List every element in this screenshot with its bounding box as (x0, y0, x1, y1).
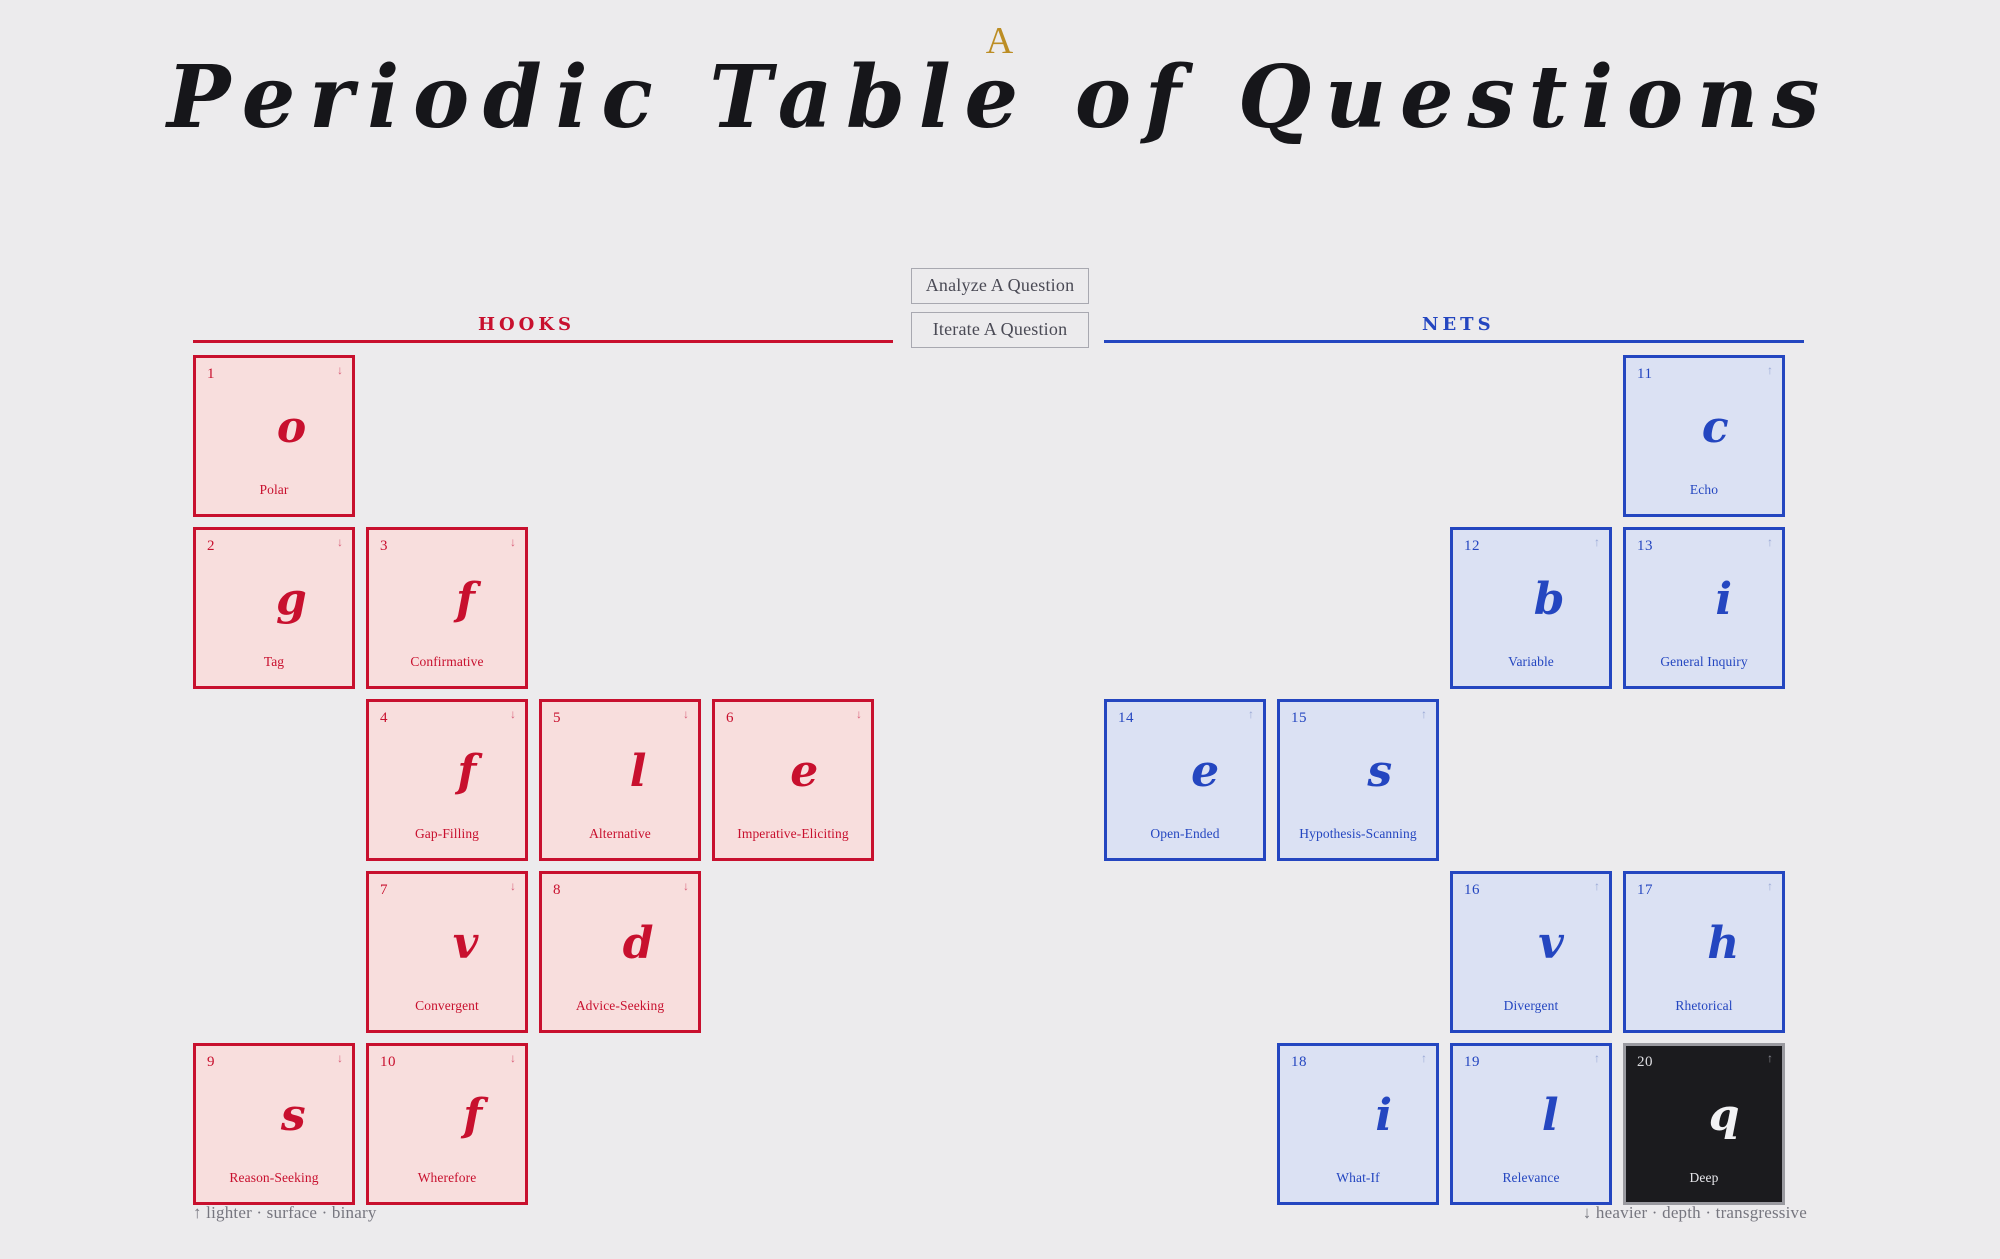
hooks-element-grid: 1↓PoPolar2↓TgTag3↓CfConfirmative4↓GfGap-… (193, 355, 893, 1205)
arrow-up-icon: ↑ (1248, 708, 1254, 720)
element-name: What-If (1280, 1170, 1436, 1186)
element-symbol-primary: R (1502, 1094, 1540, 1138)
element-symbol-secondary: i (1715, 578, 1733, 622)
element-name: Divergent (1453, 998, 1609, 1014)
element-symbol-secondary: e (1191, 750, 1220, 794)
element-symbol-primary: A (586, 922, 621, 966)
element-symbol-secondary: l (1542, 1094, 1560, 1138)
element-number: 3 (380, 538, 388, 555)
element-symbol-secondary: v (1538, 922, 1565, 966)
arrow-up-icon: ↑ (1594, 880, 1600, 892)
element-card[interactable]: 16↑DvDivergent (1450, 871, 1612, 1033)
element-symbol-primary: W (1323, 1094, 1373, 1138)
element-card[interactable]: 18↑WiWhat-If (1277, 1043, 1439, 1205)
element-name: Open-Ended (1107, 826, 1263, 842)
element-name: Echo (1626, 482, 1782, 498)
element-name: Convergent (369, 998, 525, 1014)
element-symbol: Hs (1323, 750, 1393, 794)
element-card[interactable]: 19↑RlRelevance (1450, 1043, 1612, 1205)
iterate-a-question-button[interactable]: Iterate A Question (911, 312, 1089, 348)
element-number: 11 (1637, 366, 1652, 383)
element-symbol-primary: G (417, 750, 456, 794)
element-number: 16 (1464, 882, 1480, 899)
element-name: Polar (196, 482, 352, 498)
element-card[interactable]: 15↑HsHypothesis-Scanning (1277, 699, 1439, 861)
arrow-up-icon: ↑ (1767, 880, 1773, 892)
element-symbol: Gf (417, 750, 478, 794)
arrow-up-icon: ↑ (1767, 1052, 1773, 1064)
element-number: 18 (1291, 1054, 1307, 1071)
element-symbol: Rs (241, 1094, 306, 1138)
element-symbol-secondary: v (453, 922, 480, 966)
element-number: 12 (1464, 538, 1480, 555)
element-symbol: Vb (1497, 578, 1566, 622)
element-symbol-primary: D (1497, 922, 1536, 966)
element-name: Tag (196, 654, 352, 670)
arrow-up-icon: ↑ (1421, 708, 1427, 720)
nets-panel-divider (1104, 340, 1804, 343)
element-symbol-secondary: b (1534, 578, 1566, 622)
element-card[interactable]: 13↑GiGeneral Inquiry (1623, 527, 1785, 689)
element-symbol-primary: W (411, 1094, 461, 1138)
element-symbol: Wf (411, 1094, 483, 1138)
element-number: 15 (1291, 710, 1307, 727)
element-symbol-secondary: e (790, 750, 819, 794)
element-symbol-primary: I (767, 750, 789, 794)
element-symbol-secondary: q (1709, 1094, 1741, 1138)
element-card[interactable]: 8↓AdAdvice-Seeking (539, 871, 701, 1033)
element-symbol-primary: R (1668, 922, 1706, 966)
element-symbol-primary: H (1323, 750, 1366, 794)
page-title: Periodic Table of Questions (20, 55, 1980, 141)
element-number: 19 (1464, 1054, 1480, 1071)
hooks-panel-title: HOOKS (478, 314, 575, 335)
element-card[interactable]: 6↓IeImperative-Eliciting (712, 699, 874, 861)
arrow-down-icon: ↓ (683, 708, 689, 720)
element-name: Gap-Filling (369, 826, 525, 842)
element-symbol-primary: R (241, 1094, 279, 1138)
element-symbol-secondary: s (1367, 750, 1393, 794)
element-card[interactable]: 2↓TgTag (193, 527, 355, 689)
element-symbol: Wi (1323, 1094, 1393, 1138)
element-number: 17 (1637, 882, 1653, 899)
element-card[interactable]: 3↓CfConfirmative (366, 527, 528, 689)
arrow-down-icon: ↓ (510, 536, 516, 548)
element-card[interactable]: 1↓PoPolar (193, 355, 355, 517)
element-symbol: Ad (586, 922, 655, 966)
element-symbol: Oe (1150, 750, 1220, 794)
hooks-panel: HOOKS 1↓PoPolar2↓TgTag3↓CfConfirmative4↓… (193, 310, 893, 1205)
arrow-down-icon: ↓ (337, 536, 343, 548)
element-symbol: Al (593, 750, 648, 794)
arrow-down-icon: ↓ (337, 364, 343, 376)
element-symbol-secondary: s (281, 1094, 307, 1138)
analyze-a-question-button[interactable]: Analyze A Question (911, 268, 1089, 304)
element-number: 14 (1118, 710, 1134, 727)
element-name: Deep (1626, 1170, 1782, 1186)
element-card[interactable]: 12↑VbVariable (1450, 527, 1612, 689)
element-symbol: Cv (415, 922, 480, 966)
element-number: 5 (553, 710, 561, 727)
element-name: General Inquiry (1626, 654, 1782, 670)
element-number: 9 (207, 1054, 215, 1071)
nets-panel-title: NETS (1422, 314, 1495, 335)
element-symbol-primary: I (1678, 406, 1700, 450)
arrow-down-icon: ↓ (510, 880, 516, 892)
element-symbol-primary: D (1668, 1094, 1707, 1138)
arrow-down-icon: ↓ (683, 880, 689, 892)
element-number: 1 (207, 366, 215, 383)
element-symbol: Dv (1497, 922, 1565, 966)
element-card[interactable]: 5↓AlAlternative (539, 699, 701, 861)
element-card[interactable]: 4↓GfGap-Filling (366, 699, 528, 861)
arrow-down-icon: ↓ (510, 708, 516, 720)
element-name: Confirmative (369, 654, 525, 670)
control-button-group: Analyze A Question Iterate A Question (911, 268, 1089, 348)
element-symbol-secondary: f (457, 750, 477, 794)
arrow-up-icon: ↑ (1594, 1052, 1600, 1064)
arrow-down-icon: ↓ (856, 708, 862, 720)
footer-note-heavier: ↓ heavier · depth · transgressive (1583, 1203, 1807, 1223)
element-symbol-primary: C (415, 922, 451, 966)
title-area: A Periodic Table of Questions (0, 0, 2000, 190)
element-symbol: Rh (1668, 922, 1741, 966)
element-name: Wherefore (369, 1170, 525, 1186)
element-name: Hypothesis-Scanning (1280, 826, 1436, 842)
element-symbol-primary: T (240, 578, 274, 622)
element-number: 6 (726, 710, 734, 727)
element-card[interactable]: 14↑OeOpen-Ended (1104, 699, 1266, 861)
arrow-up-icon: ↑ (1421, 1052, 1427, 1064)
element-symbol-secondary: f (463, 1094, 483, 1138)
element-symbol-primary: O (1150, 750, 1189, 794)
element-card[interactable]: 11↑IcEcho (1623, 355, 1785, 517)
element-symbol-primary: V (1497, 578, 1532, 622)
hooks-panel-divider (193, 340, 893, 343)
element-number: 4 (380, 710, 388, 727)
element-symbol: Ic (1678, 406, 1729, 450)
element-number: 2 (207, 538, 215, 555)
element-name: Relevance (1453, 1170, 1609, 1186)
element-symbol-secondary: d (623, 922, 655, 966)
arrow-down-icon: ↓ (337, 1052, 343, 1064)
nets-element-grid: 11↑IcEcho12↑VbVariable13↑GiGeneral Inqui… (1104, 355, 1804, 1205)
element-name: Variable (1453, 654, 1609, 670)
nets-panel-header: NETS (1104, 310, 1804, 340)
element-card[interactable]: 9↓RsReason-Seeking (193, 1043, 355, 1205)
element-symbol-secondary: h (1707, 922, 1740, 966)
element-symbol-primary: A (593, 750, 628, 794)
element-number: 20 (1637, 1054, 1653, 1071)
arrow-up-icon: ↑ (1767, 364, 1773, 376)
element-symbol: Cf (418, 578, 476, 622)
element-name: Imperative-Eliciting (715, 826, 871, 842)
arrow-up-icon: ↑ (1767, 536, 1773, 548)
element-number: 10 (380, 1054, 396, 1071)
element-name: Rhetorical (1626, 998, 1782, 1014)
element-symbol-secondary: c (1702, 406, 1730, 450)
element-symbol: Ie (767, 750, 820, 794)
element-number: 8 (553, 882, 561, 899)
element-symbol-primary: P (241, 406, 275, 450)
element-card[interactable]: 20↑DqDeep (1623, 1043, 1785, 1205)
element-card[interactable]: 17↑RhRhetorical (1623, 871, 1785, 1033)
element-symbol-secondary: f (456, 578, 476, 622)
arrow-up-icon: ↑ (1594, 536, 1600, 548)
element-symbol: Gi (1675, 578, 1733, 622)
arrow-down-icon: ↓ (510, 1052, 516, 1064)
element-symbol: Dq (1668, 1094, 1741, 1138)
element-symbol-secondary: l (630, 750, 648, 794)
element-symbol: Tg (240, 578, 308, 622)
element-name: Advice-Seeking (542, 998, 698, 1014)
element-symbol: Po (241, 406, 307, 450)
element-symbol-secondary: i (1375, 1094, 1393, 1138)
element-number: 13 (1637, 538, 1653, 555)
element-number: 7 (380, 882, 388, 899)
nets-panel: NETS 11↑IcEcho12↑VbVariable13↑GiGeneral … (1104, 310, 1804, 1205)
element-name: Reason-Seeking (196, 1170, 352, 1186)
element-name: Alternative (542, 826, 698, 842)
element-symbol-secondary: g (276, 578, 308, 622)
element-symbol-primary: C (418, 578, 454, 622)
footer-note-lighter: ↑ lighter · surface · binary (193, 1203, 377, 1223)
hooks-panel-header: HOOKS (193, 310, 893, 340)
element-symbol-primary: G (1675, 578, 1714, 622)
element-card[interactable]: 10↓WfWherefore (366, 1043, 528, 1205)
element-card[interactable]: 7↓CvConvergent (366, 871, 528, 1033)
element-symbol-secondary: o (277, 406, 307, 450)
element-symbol: Rl (1502, 1094, 1559, 1138)
